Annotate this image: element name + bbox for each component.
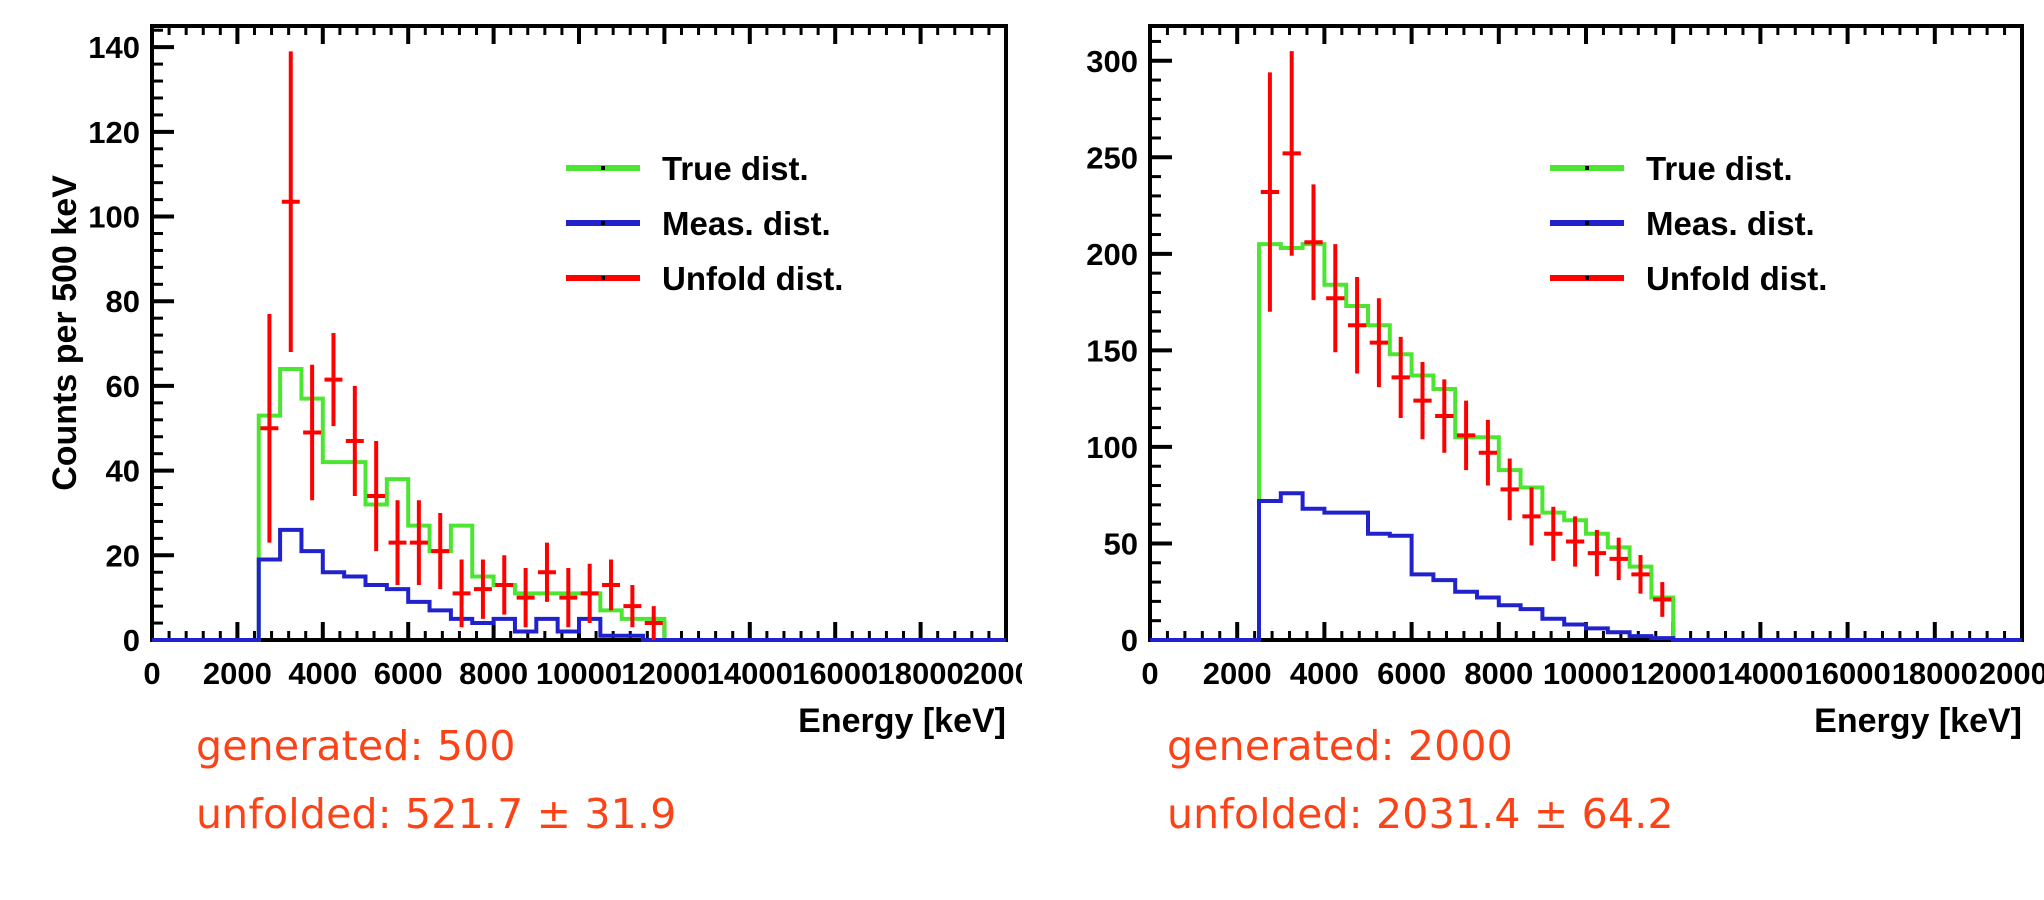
x-tick-label: 16000 <box>1804 656 1890 691</box>
y-tick-label: 0 <box>123 623 140 658</box>
y-tick-label: 120 <box>88 115 140 150</box>
x-tick-label: 10000 <box>1543 656 1629 691</box>
legend: True dist.Meas. dist.Unfold dist. <box>566 150 843 297</box>
x-tick-label: 6000 <box>374 656 443 691</box>
figure-root: 0200040006000800010000120001400016000180… <box>0 0 2044 900</box>
x-tick-label: 8000 <box>1464 656 1533 691</box>
series-true-dist- <box>1150 244 2022 640</box>
y-tick-label: 80 <box>106 284 140 319</box>
legend-marker-unfold <box>601 276 605 280</box>
legend-marker-unfold <box>1585 276 1589 280</box>
legend-marker-true <box>1585 166 1589 170</box>
x-tick-label: 0 <box>1141 656 1158 691</box>
x-tick-label: 4000 <box>288 656 357 691</box>
y-tick-label: 40 <box>106 454 140 489</box>
x-tick-label: 18000 <box>1892 656 1978 691</box>
y-tick-label: 60 <box>106 369 140 404</box>
x-tick-label: 18000 <box>877 656 963 691</box>
x-tick-label: 14000 <box>707 656 793 691</box>
y-tick-label: 100 <box>88 200 140 235</box>
legend: True dist.Meas. dist.Unfold dist. <box>1550 150 1827 297</box>
series-true-dist- <box>152 369 1006 640</box>
y-axis-label: Counts per 500 keV <box>46 175 84 491</box>
legend-label-true: True dist. <box>662 150 809 187</box>
y-tick-label: 50 <box>1104 526 1138 561</box>
legend-label-unfold: Unfold dist. <box>1646 260 1827 297</box>
x-tick-label: 8000 <box>459 656 528 691</box>
panel-right: 0200040006000800010000120001400016000180… <box>1022 0 2044 900</box>
y-tick-label: 140 <box>88 30 140 65</box>
plot-frame <box>1150 26 2022 640</box>
annotation-generated-left: generated: 500 <box>196 722 516 770</box>
x-tick-label: 20000 <box>1979 656 2044 691</box>
x-tick-label: 6000 <box>1377 656 1446 691</box>
legend-marker-meas <box>601 221 605 225</box>
x-tick-label: 10000 <box>536 656 622 691</box>
y-tick-label: 150 <box>1086 333 1138 368</box>
y-tick-label: 250 <box>1086 140 1138 175</box>
x-axis-label: Energy [keV] <box>798 702 1006 740</box>
x-tick-label: 2000 <box>1203 656 1272 691</box>
x-tick-label: 0 <box>143 656 160 691</box>
annotation-unfolded-left: unfolded: 521.7 ± 31.9 <box>196 790 677 838</box>
annotation-generated-right: generated: 2000 <box>1167 722 1513 770</box>
y-tick-label: 20 <box>106 538 140 573</box>
panel-left: 0200040006000800010000120001400016000180… <box>0 0 1022 900</box>
legend-label-unfold: Unfold dist. <box>662 260 843 297</box>
legend-label-true: True dist. <box>1646 150 1793 187</box>
series-unfold-dist <box>1261 51 1672 617</box>
x-tick-label: 14000 <box>1717 656 1803 691</box>
legend-marker-meas <box>1585 221 1589 225</box>
y-tick-label: 100 <box>1086 430 1138 465</box>
x-tick-label: 12000 <box>621 656 707 691</box>
annotation-unfolded-right: unfolded: 2031.4 ± 64.2 <box>1167 790 1674 838</box>
legend-label-meas: Meas. dist. <box>662 205 831 242</box>
y-tick-label: 300 <box>1086 44 1138 79</box>
legend-label-meas: Meas. dist. <box>1646 205 1815 242</box>
y-tick-label: 0 <box>1121 623 1138 658</box>
x-tick-label: 4000 <box>1290 656 1359 691</box>
x-tick-label: 12000 <box>1630 656 1716 691</box>
legend-marker-true <box>601 166 605 170</box>
y-tick-label: 200 <box>1086 237 1138 272</box>
x-tick-label: 16000 <box>792 656 878 691</box>
x-tick-label: 20000 <box>963 656 1022 691</box>
x-axis-label: Energy [keV] <box>1814 702 2022 740</box>
x-tick-label: 2000 <box>203 656 272 691</box>
series-meas-dist- <box>1150 493 2022 640</box>
series-meas-dist- <box>152 530 1006 640</box>
